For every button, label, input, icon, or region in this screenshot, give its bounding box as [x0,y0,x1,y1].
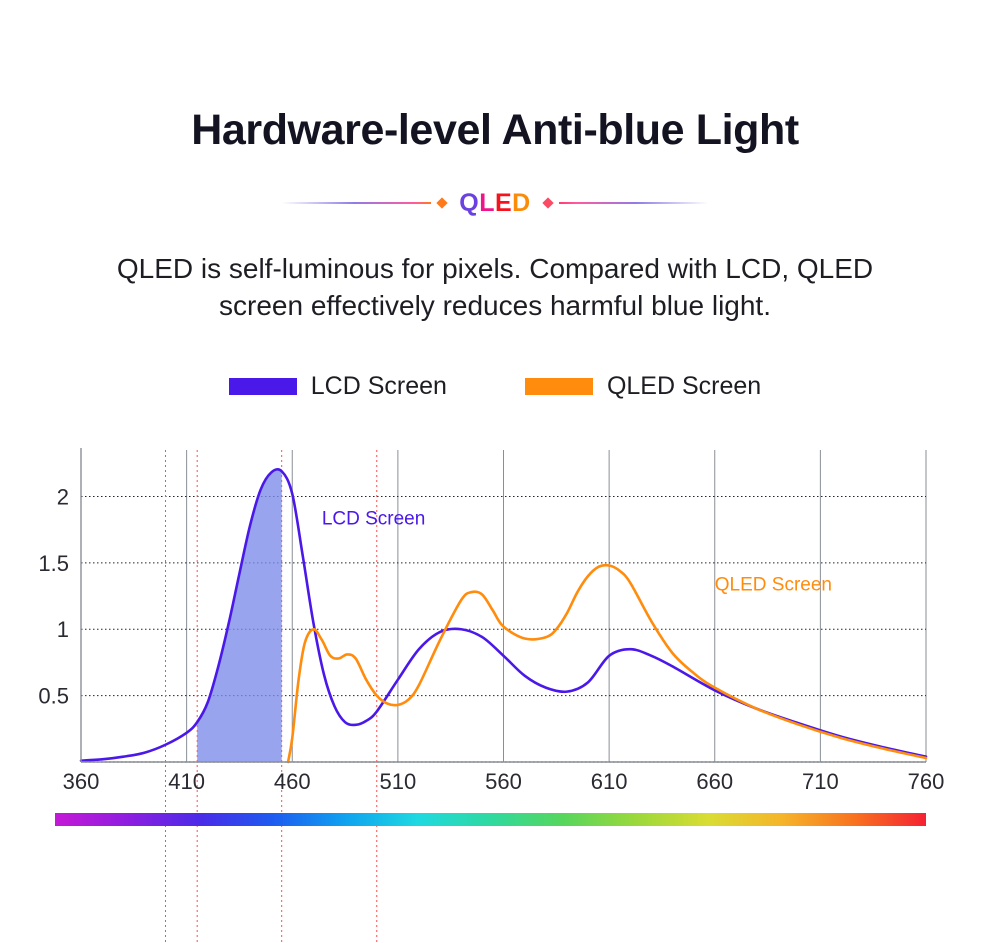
x-tick-label-410: 410 [168,769,205,794]
brand-letter-l: L [479,189,495,217]
visible-spectrum-bar [55,813,926,826]
x-tick-label-460: 460 [274,769,311,794]
chart-legend: LCD Screen QLED Screen [0,374,990,399]
legend-swatch-lcd [229,378,297,395]
subtitle-line-1: QLED is self-luminous for pixels. Compar… [45,250,945,287]
subtitle: QLED is self-luminous for pixels. Compar… [45,250,945,324]
page-root: Hardware-level Anti-blue Light QLED QLED… [0,0,990,943]
brand-divider: QLED [0,186,990,220]
brand-letter-d: D [512,189,531,217]
legend-item-qled: QLED Screen [525,374,761,399]
brand-letter-e: E [495,189,512,217]
legend-item-lcd: LCD Screen [229,374,447,399]
legend-label-lcd: LCD Screen [311,374,447,399]
x-tick-label-710: 710 [802,769,839,794]
subtitle-line-2: screen effectively reduces harmful blue … [45,287,945,324]
y-tick-label-2: 2 [57,484,69,509]
divider-diamond-right-icon [542,197,553,208]
x-tick-label-660: 660 [696,769,733,794]
x-tick-label-560: 560 [485,769,522,794]
brand-word: QLED [459,191,530,216]
x-tick-label-610: 610 [591,769,628,794]
divider-diamond-left-icon [437,197,448,208]
divider-line-left [283,202,431,204]
x-tick-label-510: 510 [380,769,417,794]
y-tick-label-0.5: 0.5 [38,684,69,709]
inline-label-qled: QLED Screen [715,575,832,596]
brand-letter-q: Q [459,189,479,217]
inline-label-lcd: LCD Screen [322,508,426,529]
x-tick-label-360: 360 [63,769,100,794]
page-title: Hardware-level Anti-blue Light [0,104,990,156]
legend-swatch-qled [525,378,593,395]
spectrum-chart: 0.511.52360410460510560610660710760 LCD … [0,440,990,943]
divider-line-right [559,202,707,204]
x-tick-label-760: 760 [908,769,945,794]
y-tick-label-1.5: 1.5 [38,551,69,576]
chart-tick-labels: 0.511.52360410460510560610660710760 [38,484,944,794]
y-tick-label-1: 1 [57,617,69,642]
legend-label-qled: QLED Screen [607,374,761,399]
chart-svg: 0.511.52360410460510560610660710760 LCD … [0,440,990,943]
spectrum-gradient-bar [55,813,926,826]
